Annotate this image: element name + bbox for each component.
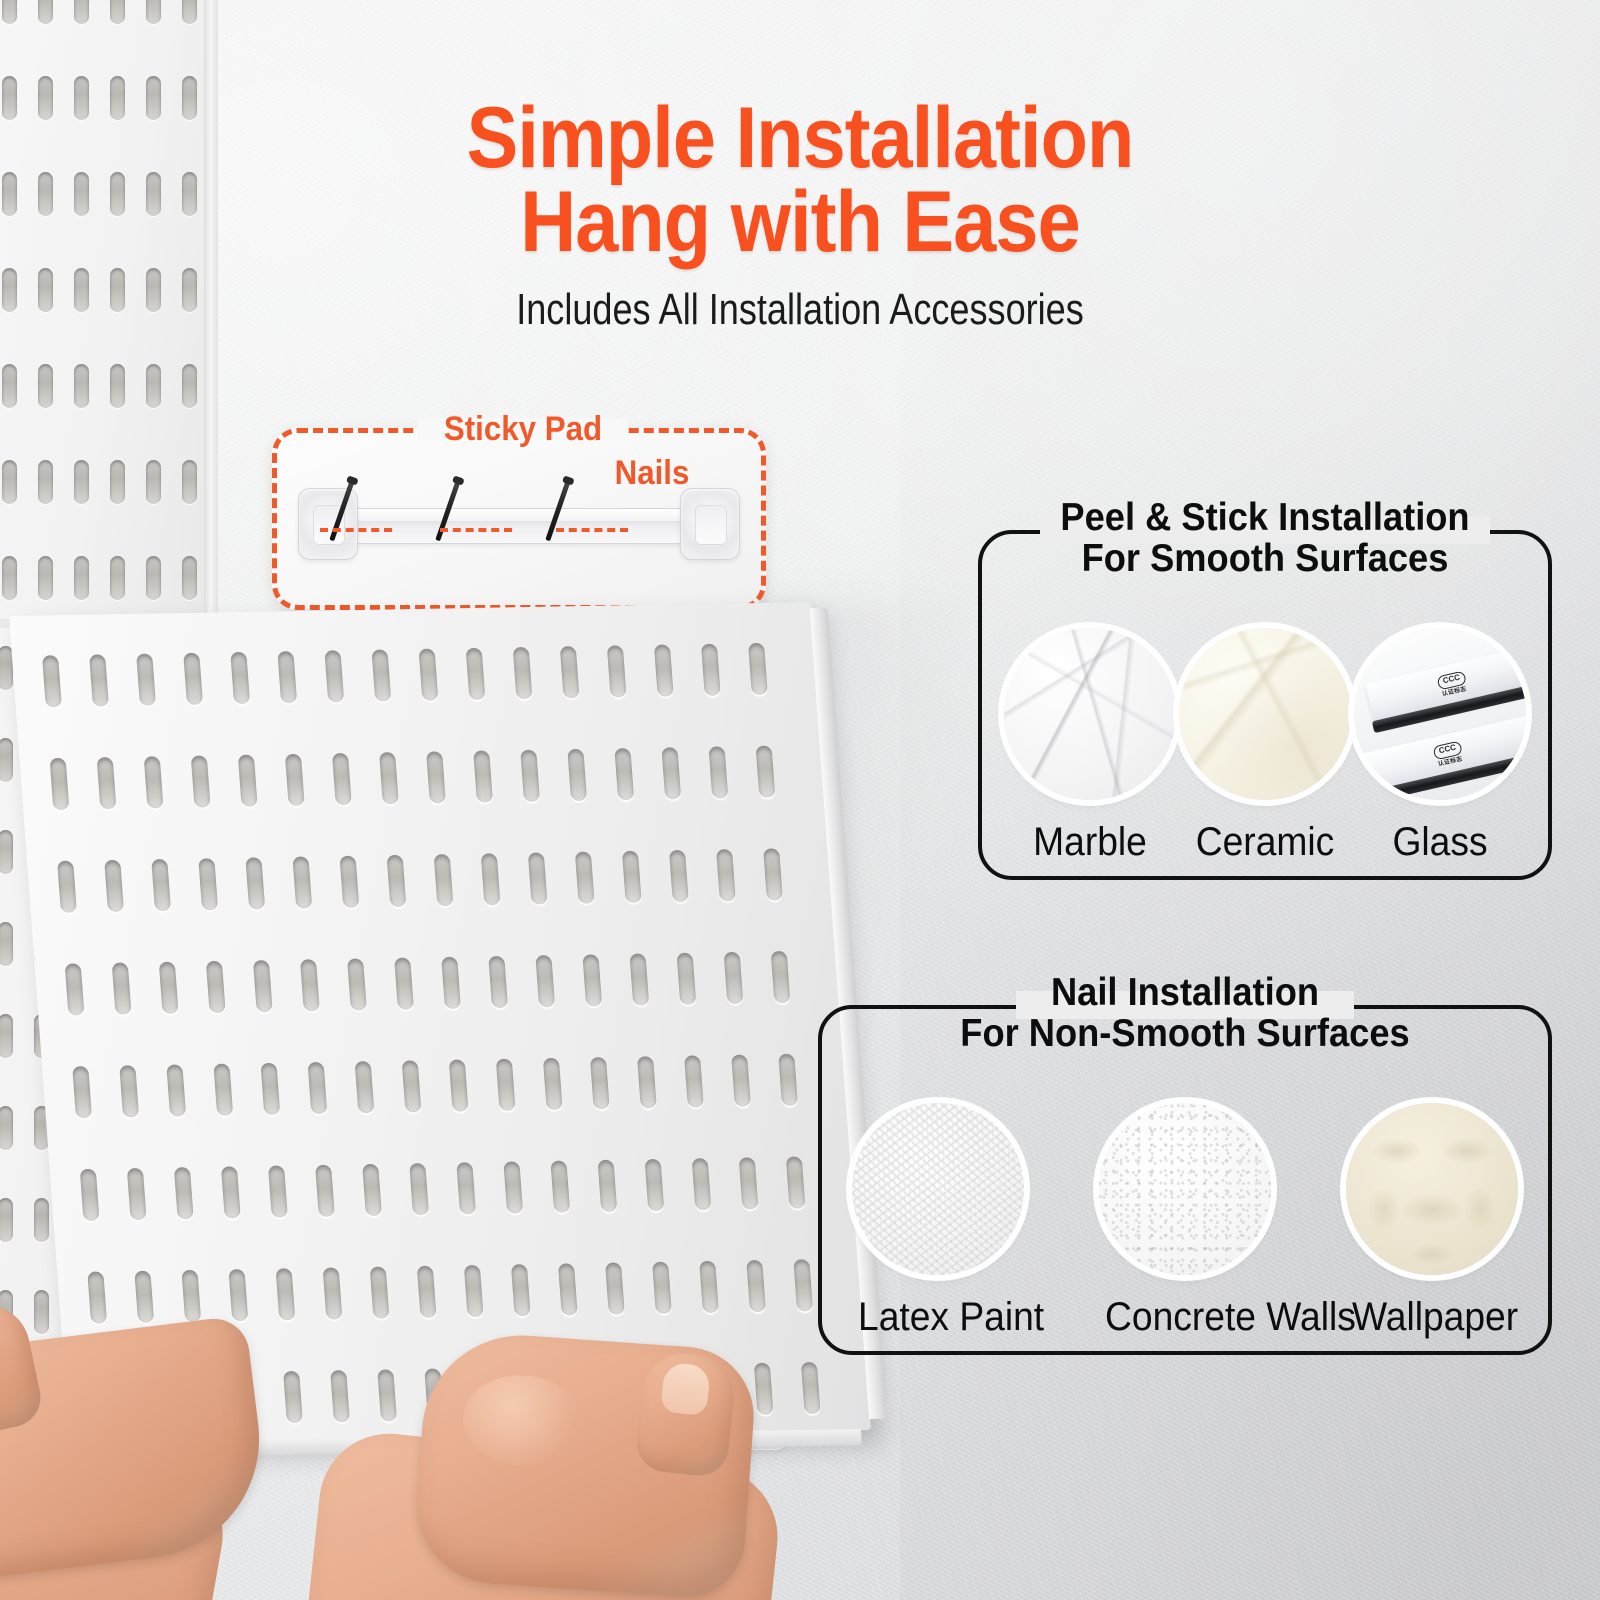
pegboard-slot xyxy=(605,1262,625,1314)
pegboard-slot xyxy=(622,851,642,903)
pegboard-slot xyxy=(701,644,721,696)
ccc-badge-top: CCC 认证标志 xyxy=(1424,668,1482,702)
pegboard-slot xyxy=(277,651,297,703)
pegboard-slot xyxy=(65,963,85,1015)
pegboard-slot xyxy=(2,364,17,408)
pegboard-slot xyxy=(466,648,486,700)
pegboard-slot xyxy=(543,1058,563,1110)
panel-title-line-2: For Smooth Surfaces xyxy=(998,539,1532,580)
pegboard-slot xyxy=(629,954,649,1006)
surface-item-glass[interactable]: CCC 认证标志 CCC 认证标志 Glass xyxy=(1354,628,1526,862)
pegboard-slot xyxy=(0,830,13,874)
marble-swatch-icon xyxy=(1004,628,1176,800)
pegboard-slot xyxy=(110,460,125,504)
pegboard-slot xyxy=(419,649,439,701)
pegboard-slot xyxy=(34,1198,49,1242)
pegboard-slot xyxy=(38,0,53,24)
pegboard-slot xyxy=(38,364,53,408)
infographic-canvas: Simple Installation Hang with Ease Inclu… xyxy=(0,0,1600,1600)
pegboard-slot xyxy=(38,268,53,312)
pegboard-slot xyxy=(151,859,171,911)
pegboard-slot xyxy=(535,955,555,1007)
glass-pane-top: CCC 认证标志 xyxy=(1365,641,1526,729)
pegboard-slot xyxy=(692,1158,712,1210)
pegboard-slot xyxy=(38,460,53,504)
pegboard-slot xyxy=(2,172,17,216)
pegboard-slot xyxy=(637,1056,657,1108)
pegboard-slot xyxy=(528,852,548,904)
surface-item-marble[interactable]: Marble xyxy=(1004,628,1176,862)
pegboard-slot xyxy=(182,0,197,24)
pegboard-slot xyxy=(511,1264,531,1316)
pegboard-slot xyxy=(0,1198,13,1242)
pegboard-slot xyxy=(371,649,391,701)
pegboard-slot xyxy=(763,848,783,900)
pegboard-slot xyxy=(182,364,197,408)
pegboard-slot xyxy=(57,861,77,913)
panel-title-line-2: For Non-Smooth Surfaces xyxy=(844,1014,1527,1055)
pegboard-slot xyxy=(0,1014,13,1058)
pegboard-slot xyxy=(80,1169,100,1221)
left-palm xyxy=(0,1315,273,1584)
pegboard-slot xyxy=(708,746,728,798)
pegboard-slot xyxy=(97,757,117,809)
pegboard-slot xyxy=(332,753,352,805)
pegboard-slot xyxy=(550,1161,570,1213)
pegboard-slot xyxy=(558,1263,578,1315)
pegboard-slot xyxy=(473,751,493,803)
panel-title: Nail Installation For Non-Smooth Surface… xyxy=(844,973,1527,1054)
pegboard-slot xyxy=(645,1159,665,1211)
panel-peel-and-stick[interactable]: Peel & Stick Installation For Smooth Sur… xyxy=(978,530,1552,880)
pegboard-slot xyxy=(300,959,320,1011)
pegboard-slot xyxy=(496,1059,516,1111)
pegboard-slot xyxy=(253,960,273,1012)
surface-label: Latex Paint xyxy=(858,1297,1018,1337)
pegboard-slot xyxy=(104,860,124,912)
pegboard-slot xyxy=(74,556,89,600)
ceramic-swatch-icon xyxy=(1179,628,1351,800)
pegboard-slot xyxy=(409,1163,429,1215)
pegboard-slot xyxy=(146,364,161,408)
pegboard-slot xyxy=(607,645,627,697)
pegboard-slot xyxy=(260,1063,280,1115)
pegboard-slot xyxy=(0,738,13,782)
pegboard-slot xyxy=(339,856,359,908)
glass-swatch-icon: CCC 认证标志 CCC 认证标志 xyxy=(1354,628,1526,800)
pegboard-slot xyxy=(221,1166,241,1218)
pegboard-slot xyxy=(0,922,13,966)
surface-label: Ceramic xyxy=(1185,822,1345,862)
pegboard-slot xyxy=(112,963,132,1015)
pegboard-slot xyxy=(119,1065,139,1117)
pegboard-slot xyxy=(72,1066,92,1118)
pegboard-slot xyxy=(89,654,109,706)
pegboard-slot xyxy=(2,460,17,504)
pegboard-slot xyxy=(166,1064,186,1116)
pegboard-slot xyxy=(362,1164,382,1216)
pegboard-slot xyxy=(669,850,689,902)
pegboard-slot xyxy=(230,652,250,704)
pegboard-slot xyxy=(42,655,62,707)
pegboard-slot xyxy=(677,953,697,1005)
pegboard-slot xyxy=(520,750,540,802)
pegboard-slot xyxy=(38,76,53,120)
pegboard-slot xyxy=(74,460,89,504)
pegboard-slot xyxy=(488,956,508,1008)
pegboard-slot xyxy=(245,857,265,909)
headline-line-1: Simple Installation xyxy=(467,90,1134,186)
pegboard-slot xyxy=(739,1157,759,1209)
pegboard-slot xyxy=(449,1060,469,1112)
pegboard-slot xyxy=(347,958,367,1010)
pegboard-slot xyxy=(2,556,17,600)
sticky-pad-label: Sticky Pad xyxy=(426,412,619,446)
pegboard-slot xyxy=(652,1262,672,1314)
pegboard-slot xyxy=(786,1156,806,1208)
pegboard-slot xyxy=(2,268,17,312)
pegboard-slot xyxy=(0,1106,13,1150)
panel-title-line-1: Nail Installation xyxy=(844,973,1527,1014)
pegboard-slot xyxy=(503,1161,523,1213)
pegboard-slot xyxy=(654,645,674,697)
pegboard-slot xyxy=(464,1265,484,1317)
surface-label: Glass xyxy=(1360,822,1520,862)
pegboard-slot xyxy=(456,1162,476,1214)
pegboard-slot xyxy=(724,952,744,1004)
pegboard-slot xyxy=(731,1055,751,1107)
pegboard-slot xyxy=(778,1054,798,1106)
pegboard-slot xyxy=(582,954,602,1006)
page-title: Simple Installation Hang with Ease xyxy=(80,96,1520,265)
pegboard-slot xyxy=(159,962,179,1014)
pegboard-slot xyxy=(136,654,156,706)
pegboard-slot xyxy=(513,647,533,699)
wallpaper-swatch-icon xyxy=(1346,1103,1518,1275)
pegboard-slot xyxy=(434,854,454,906)
pegboard-slot xyxy=(74,0,89,24)
pegboard-slot xyxy=(793,1259,813,1311)
panel-title: Peel & Stick Installation For Smooth Sur… xyxy=(998,498,1532,579)
surface-item-wallpaper[interactable]: Wallpaper xyxy=(1346,1103,1518,1337)
pegboard-slot xyxy=(198,858,218,910)
pegboard-slot xyxy=(127,1168,147,1220)
concrete-swatch-icon xyxy=(1099,1103,1271,1275)
panel-title-line-1: Peel & Stick Installation xyxy=(998,498,1532,539)
pegboard-slot xyxy=(575,852,595,904)
latex-paint-swatch-icon xyxy=(852,1103,1024,1275)
headline-line-2: Hang with Ease xyxy=(80,180,1520,264)
pegboard-slot xyxy=(183,653,203,705)
pegboard-slot xyxy=(426,751,446,803)
pegboard-slot xyxy=(324,650,344,702)
pegboard-slot xyxy=(206,961,226,1013)
pegboard-slot xyxy=(50,758,70,810)
pegboard-slot xyxy=(441,957,461,1009)
pegboard-slot xyxy=(182,460,197,504)
pegboard-slot xyxy=(74,268,89,312)
pegboard-slot xyxy=(110,268,125,312)
pegboard-slot xyxy=(756,746,776,798)
pegboard-slot xyxy=(370,1267,390,1319)
pegboard-slot xyxy=(684,1055,704,1107)
pegboard-slot xyxy=(355,1061,375,1113)
surface-item-latex-paint[interactable]: Latex Paint xyxy=(852,1103,1024,1337)
right-hand xyxy=(310,1330,790,1600)
surface-item-concrete-walls[interactable]: Concrete Walls xyxy=(1099,1103,1271,1337)
pegboard-slot xyxy=(74,364,89,408)
sticky-pad-callout: Sticky Pad Nails xyxy=(272,428,766,610)
pegboard-slot xyxy=(38,172,53,216)
pegboard-slot xyxy=(560,646,580,698)
pegboard-slot xyxy=(661,747,681,799)
pegboard-slot xyxy=(174,1167,194,1219)
pegboard-slot xyxy=(597,1160,617,1212)
pegboard-slot xyxy=(110,556,125,600)
surface-list: Marble Ceramic CCC 认证标志 xyxy=(1004,628,1526,862)
pegboard-slot xyxy=(394,958,414,1010)
pegboard-slot xyxy=(285,754,305,806)
surface-label: Concrete Walls xyxy=(1105,1297,1265,1337)
pegboard-slot xyxy=(213,1064,233,1116)
pegboard-slot xyxy=(182,556,197,600)
pegboard-slot xyxy=(2,76,17,120)
pegboard-slot xyxy=(748,643,768,695)
page-subtitle: Includes All Installation Accessories xyxy=(144,288,1456,332)
pegboard-slot xyxy=(567,749,587,801)
pegboard-slot xyxy=(146,556,161,600)
ccc-badge-bottom: CCC 认证标志 xyxy=(1420,738,1478,772)
pegboard-slot xyxy=(110,0,125,24)
pegboard-slot xyxy=(387,855,407,907)
pegboard-slot xyxy=(746,1260,766,1312)
pegboard-slot xyxy=(614,748,634,800)
pegboard-slot xyxy=(191,755,211,807)
pegboard-slot xyxy=(315,1165,335,1217)
pegboard-slot xyxy=(144,756,164,808)
pegboard-slot xyxy=(379,752,399,804)
surface-label: Marble xyxy=(1010,822,1170,862)
left-hand xyxy=(0,1300,360,1600)
panel-nail-installation[interactable]: Nail Installation For Non-Smooth Surface… xyxy=(818,1005,1552,1355)
pegboard-slot xyxy=(110,364,125,408)
pegboard-slot xyxy=(699,1261,719,1313)
nails-label: Nails xyxy=(578,456,725,490)
pegboard-slot xyxy=(771,951,791,1003)
pegboard-slot xyxy=(801,1362,821,1414)
surface-label: Wallpaper xyxy=(1352,1297,1512,1337)
pegboard-slot xyxy=(308,1062,328,1114)
pegboard-slot xyxy=(417,1266,437,1318)
pegboard-slot xyxy=(38,556,53,600)
surface-list: Latex Paint Concrete Walls Wallpaper xyxy=(852,1103,1518,1337)
surface-item-ceramic[interactable]: Ceramic xyxy=(1179,628,1351,862)
pegboard-slot xyxy=(481,853,501,905)
pegboard-slot xyxy=(146,460,161,504)
pegboard-slot xyxy=(402,1060,422,1112)
pegboard-slot xyxy=(292,857,312,909)
knuckle-highlight xyxy=(460,1371,586,1469)
pegboard-slot xyxy=(716,849,736,901)
pegboard-slot xyxy=(268,1166,288,1218)
pegboard-slot xyxy=(238,755,258,807)
pegboard-slot xyxy=(590,1057,610,1109)
pegboard-slot xyxy=(2,0,17,24)
pegboard-slot xyxy=(146,0,161,24)
